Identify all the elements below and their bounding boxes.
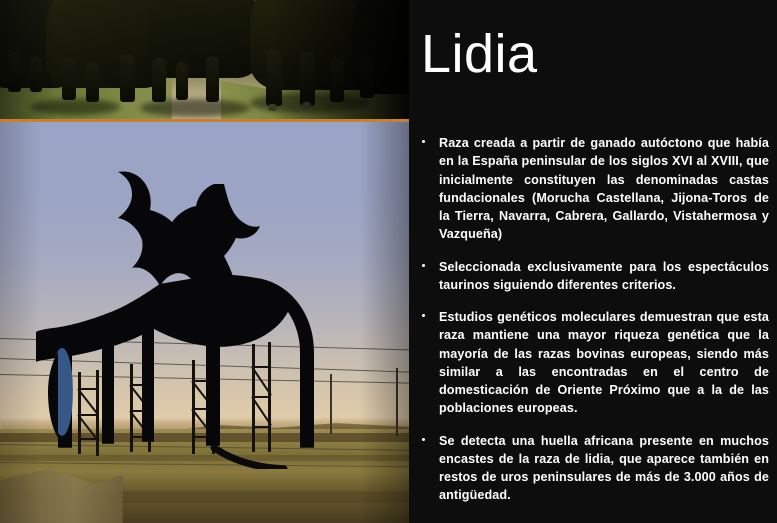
utility-pole: [396, 368, 398, 436]
content-area: Raza creada a partir de ganado autóctono…: [409, 122, 777, 523]
bullet-text: Raza creada a partir de ganado autóctono…: [439, 136, 769, 241]
bullet-dot-icon: [422, 438, 425, 441]
list-item: Estudios genéticos moleculares demuestra…: [409, 308, 769, 418]
presentation-slide: Lidia Raza creada a partir de ganado aut…: [0, 0, 777, 523]
bullet-text: Se detecta una huella africana presente …: [439, 434, 769, 503]
bullet-list: Raza creada a partir de ganado autóctono…: [409, 122, 777, 505]
utility-pole: [330, 374, 332, 434]
bullet-text: Estudios genéticos moleculares demuestra…: [439, 310, 769, 415]
photo-vignette: [0, 0, 409, 119]
bullet-dot-icon: [422, 140, 425, 143]
accent-rule-title: [10, 119, 313, 122]
bullet-text: Seleccionada exclusivamente para los esp…: [439, 260, 769, 292]
list-item: Raza creada a partir de ganado autóctono…: [409, 134, 769, 244]
list-item: Seleccionada exclusivamente para los esp…: [409, 258, 769, 295]
bullet-dot-icon: [422, 314, 425, 317]
osborne-bull-shape: [28, 156, 328, 469]
running-bulls-photo: [0, 0, 409, 119]
osborne-bull-silhouette-photo: [0, 122, 409, 523]
list-item: Se detecta una huella africana presente …: [409, 432, 769, 505]
bullet-dot-icon: [422, 264, 425, 267]
page-title: Lidia: [421, 26, 538, 83]
title-area: Lidia: [409, 0, 777, 122]
